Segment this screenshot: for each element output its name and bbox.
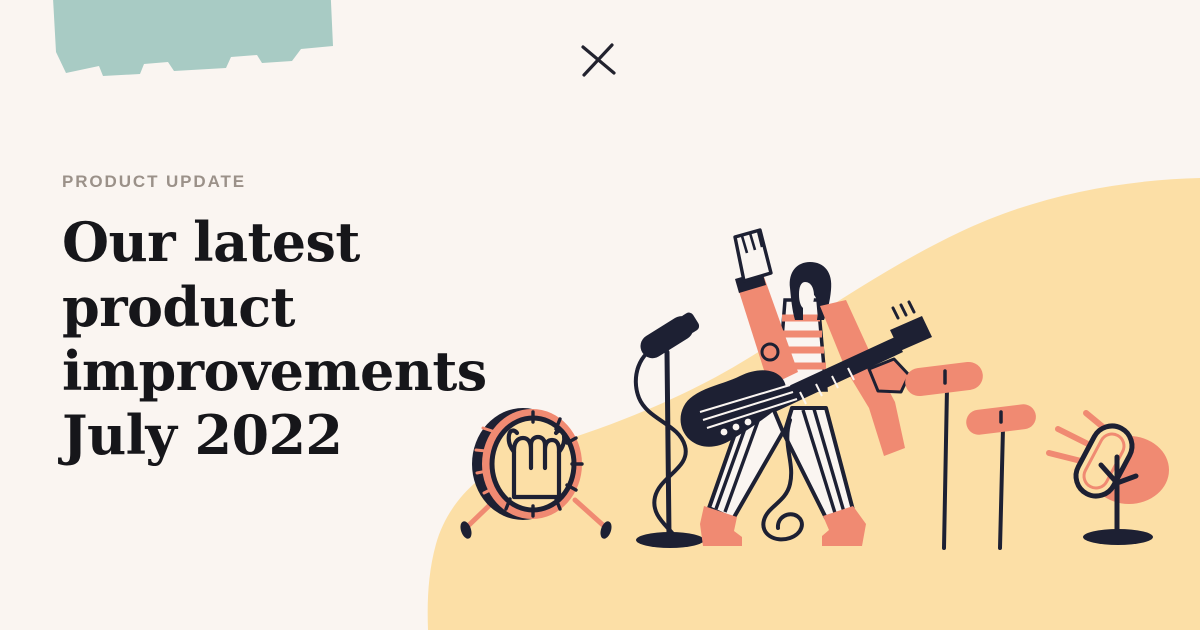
spotlight: [1049, 413, 1169, 545]
cymbal-right: [965, 403, 1038, 548]
mic-stand-pole: [667, 352, 669, 536]
product-update-banner: PRODUCT UPDATE Our latest product improv…: [0, 0, 1200, 630]
cymbal-right-stand: [1000, 428, 1003, 548]
headline-block: PRODUCT UPDATE Our latest product improv…: [62, 172, 582, 467]
spotlight-base: [1083, 529, 1153, 545]
face: [799, 282, 814, 309]
page-title: Our latest product improvements July 202…: [62, 210, 582, 467]
fist: [735, 230, 771, 281]
guitarist: [681, 230, 932, 546]
tuning-pegs: [893, 302, 914, 318]
cymbal-left: [904, 360, 985, 548]
mic-cable: [636, 345, 686, 534]
eyebrow-label: PRODUCT UPDATE: [62, 172, 582, 192]
cymbal-left-stand: [944, 388, 947, 548]
